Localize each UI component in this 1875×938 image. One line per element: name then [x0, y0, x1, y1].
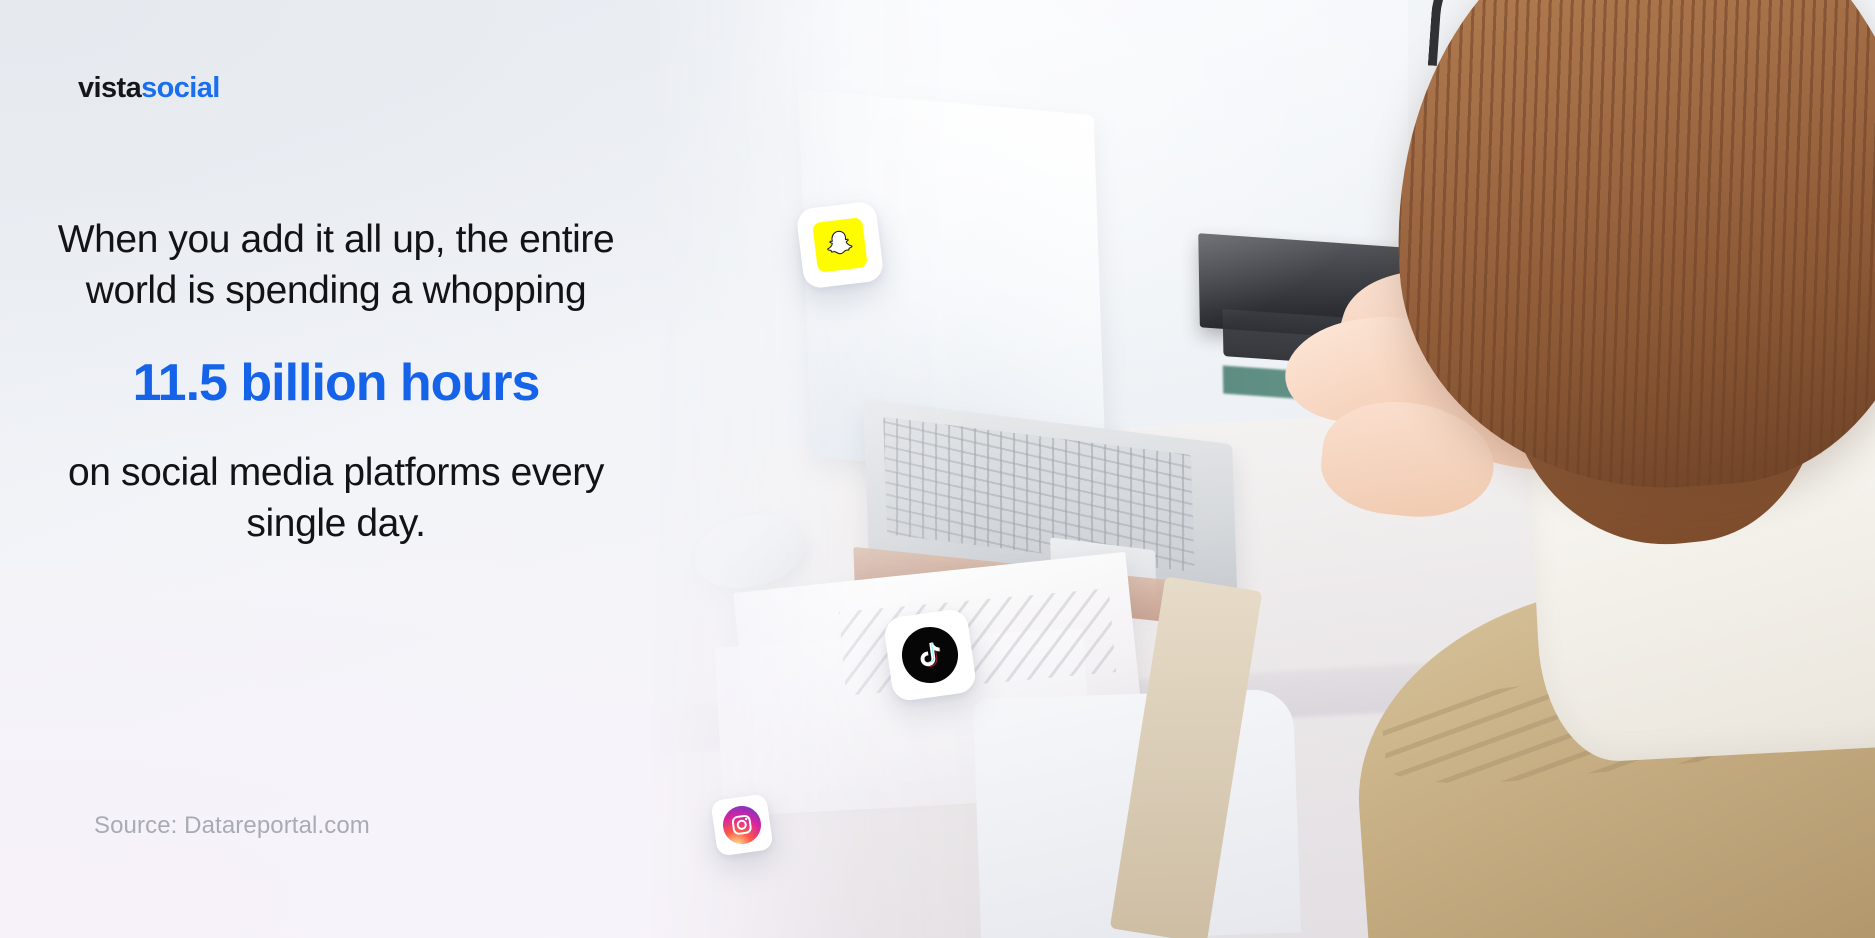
- statistic-copy-block: When you add it all up, the entire world…: [26, 215, 646, 549]
- source-attribution: Source: Datareportal.com: [94, 812, 370, 840]
- tiktok-badge: [899, 624, 962, 687]
- vistasocial-logo[interactable]: vistasocial: [78, 72, 220, 105]
- tail-line-2: single day.: [246, 502, 425, 545]
- snapchat-icon[interactable]: [795, 200, 884, 289]
- lead-text: When you add it all up, the entire world…: [26, 215, 646, 316]
- infographic-canvas: vistasocial When you add it all up, the …: [0, 0, 1875, 938]
- lead-line-1: When you add it all up, the entire: [58, 218, 615, 261]
- headline-statistic: 11.5 billion hours: [26, 350, 646, 418]
- instagram-icon[interactable]: [710, 793, 773, 856]
- hero-photo: [645, 0, 1875, 938]
- tiktok-icon[interactable]: [883, 608, 978, 703]
- tail-line-1: on social media platforms every: [68, 451, 604, 494]
- snapchat-ghost-glyph: [821, 226, 859, 264]
- logo-word-social: social: [141, 72, 220, 104]
- instagram-badge: [720, 803, 763, 846]
- instagram-camera-glyph: [729, 812, 756, 839]
- tiktok-note-glyph: [912, 637, 948, 673]
- logo-word-vista: vista: [78, 72, 141, 104]
- snapchat-badge: [812, 217, 867, 272]
- lead-line-2: world is spending a whopping: [86, 269, 586, 312]
- tail-text: on social media platforms every single d…: [26, 448, 646, 549]
